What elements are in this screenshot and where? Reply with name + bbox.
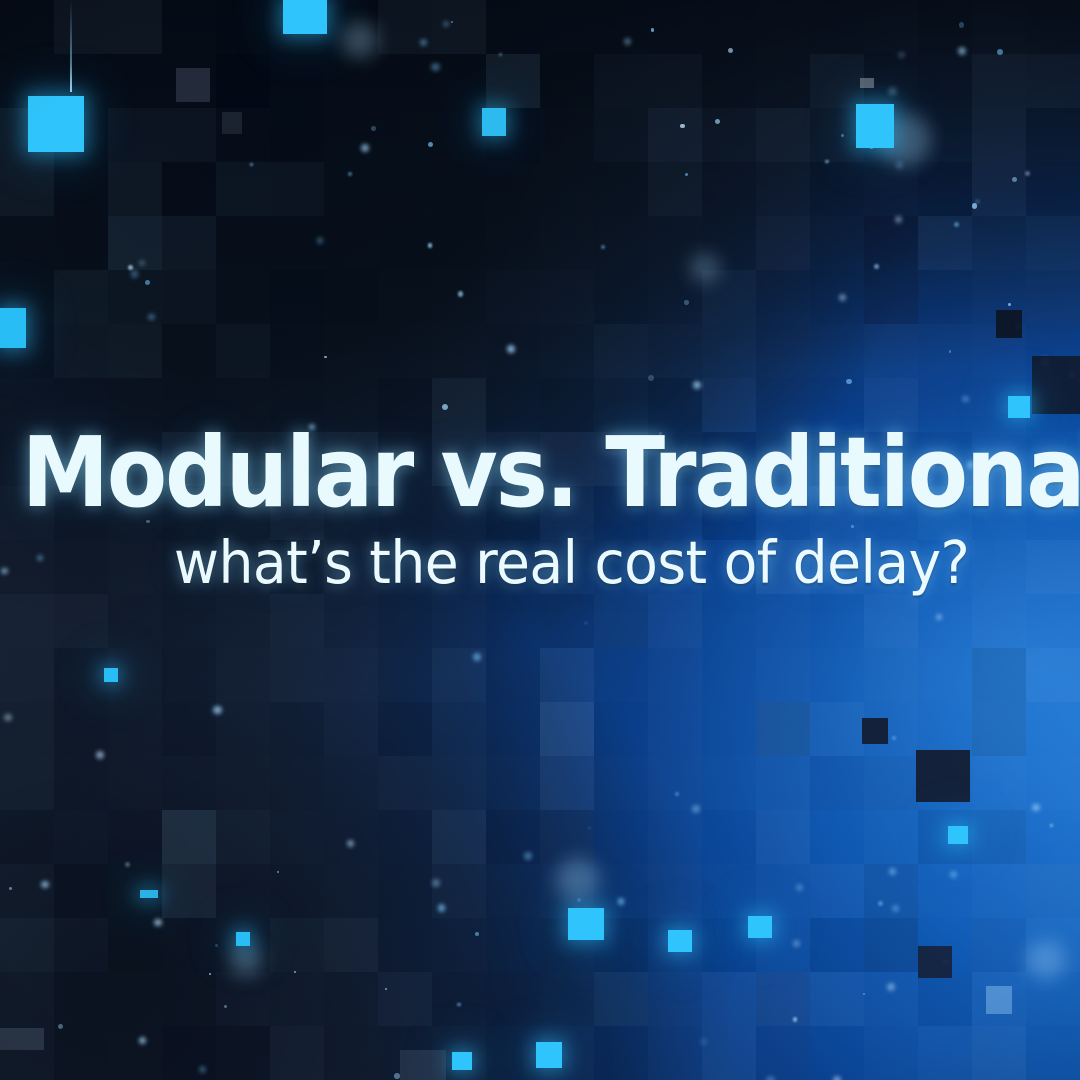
slide-subtitle: what’s the real cost of delay?	[0, 521, 1010, 592]
title-block: Modular vs. Traditional: what’s the real…	[0, 424, 1080, 592]
slide-title: Modular vs. Traditional:	[0, 424, 977, 521]
slide-canvas: Modular vs. Traditional: what’s the real…	[0, 0, 1080, 1080]
